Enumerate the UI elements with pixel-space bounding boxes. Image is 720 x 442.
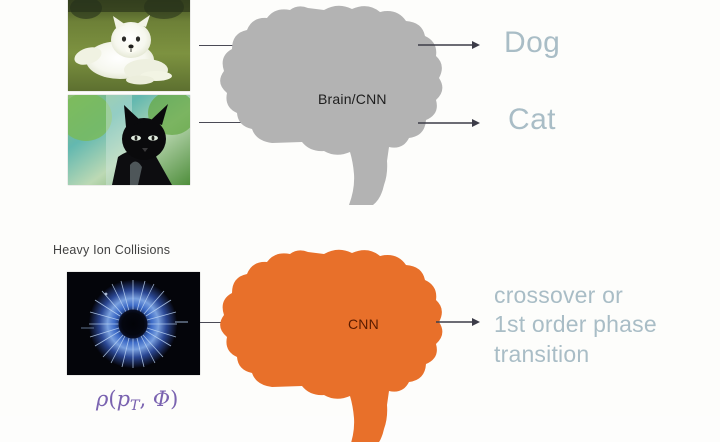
output-label-cat: Cat	[508, 104, 556, 136]
output-label-dog: Dog	[504, 27, 560, 59]
cnn-shape	[228, 246, 446, 442]
cat-photo	[68, 95, 190, 185]
output-line-2: 1st order phase	[494, 310, 657, 339]
density-formula: ρ(pT, Φ)	[96, 387, 178, 414]
heavy-ion-collision-image	[67, 272, 200, 375]
formula-close-paren: )	[170, 387, 178, 411]
arrow-cnn-to-output	[436, 315, 480, 329]
heavy-ion-collisions-caption: Heavy Ion Collisions	[53, 243, 170, 257]
phase-transition-output: crossover or 1st order phase transition	[494, 281, 657, 369]
brain-cnn-label: Brain/CNN	[318, 91, 387, 107]
formula-p: p	[117, 387, 130, 411]
cnn-label: CNN	[348, 316, 379, 332]
formula-rho: ρ	[96, 387, 108, 411]
formula-open-paren: (	[108, 387, 116, 411]
arrow-brain-to-dog	[418, 38, 480, 52]
arrow-brain-to-cat	[418, 116, 480, 130]
output-line-1: crossover or	[494, 281, 657, 310]
dog-photo	[68, 0, 190, 91]
formula-p-subscript: T	[130, 398, 140, 414]
output-line-3: transition	[494, 340, 657, 369]
formula-phi: Φ	[153, 387, 170, 411]
figure-canvas: Brain/CNN Dog Cat Heavy Ion Collisions	[0, 0, 720, 416]
formula-comma: ,	[140, 387, 153, 411]
